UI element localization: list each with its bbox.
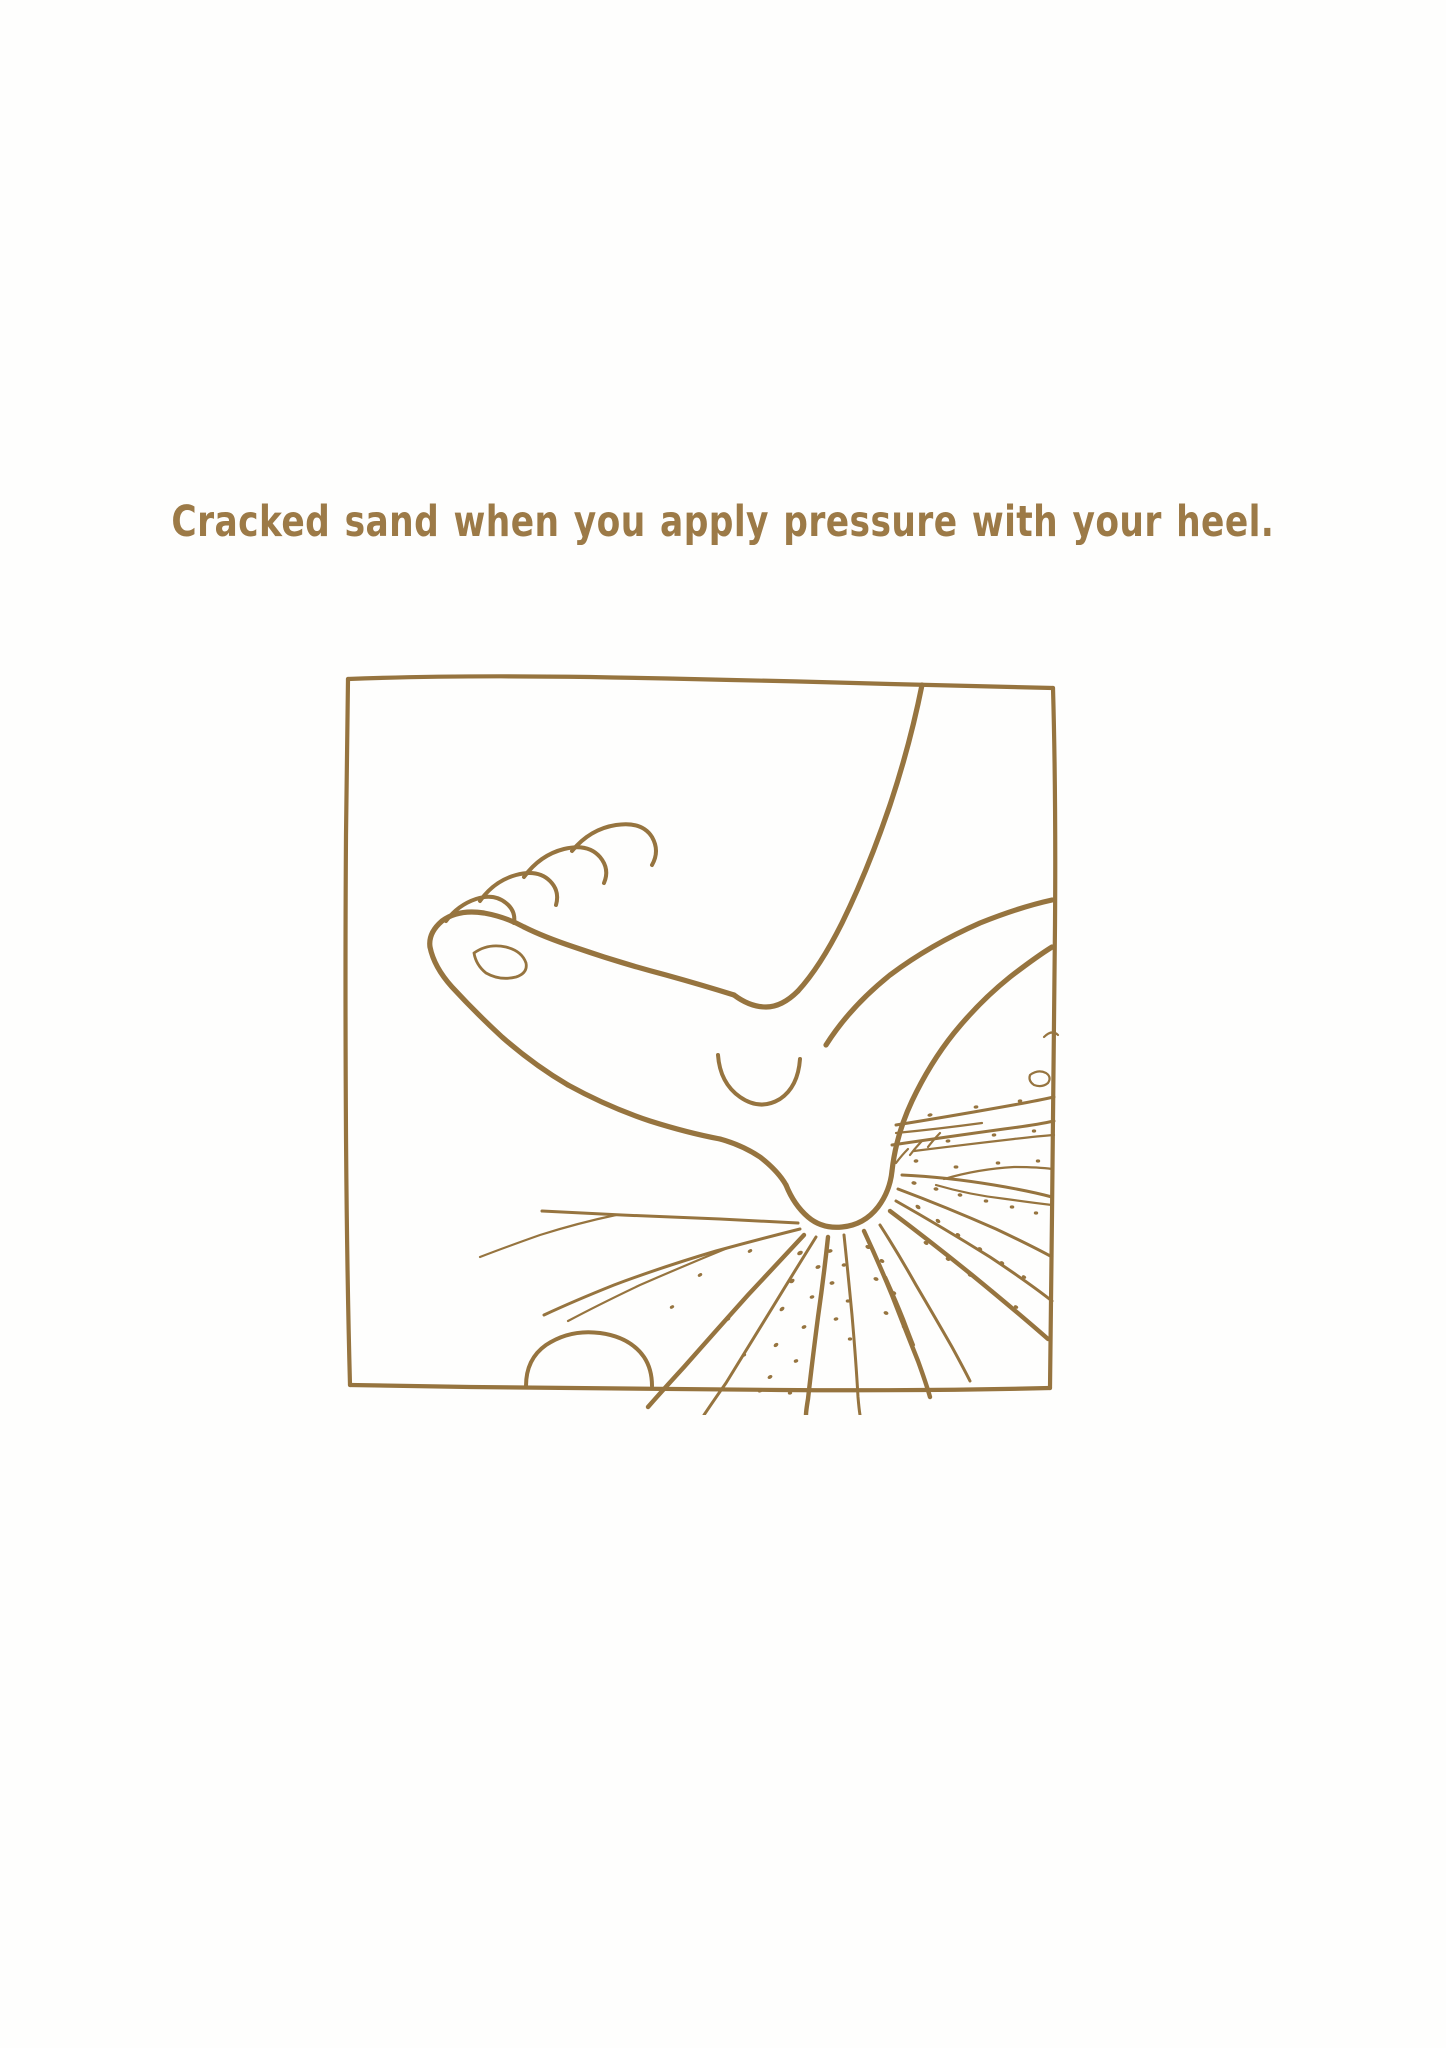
caption-text: Cracked sand when you apply pressure wit… — [172, 498, 1275, 547]
pebble — [526, 1332, 652, 1386]
caption: Cracked sand when you apply pressure wit… — [0, 498, 1446, 538]
page-canvas: Cracked sand when you apply pressure wit… — [0, 0, 1446, 2048]
toes — [446, 824, 656, 978]
cracks — [480, 1032, 1058, 1415]
ankle-bone-mark — [718, 1055, 800, 1105]
leg — [734, 685, 1052, 1045]
cracked-sand-drawing — [330, 655, 1070, 1415]
frame-border-icon — [346, 676, 1056, 1390]
illustration-panel — [330, 655, 1070, 1415]
